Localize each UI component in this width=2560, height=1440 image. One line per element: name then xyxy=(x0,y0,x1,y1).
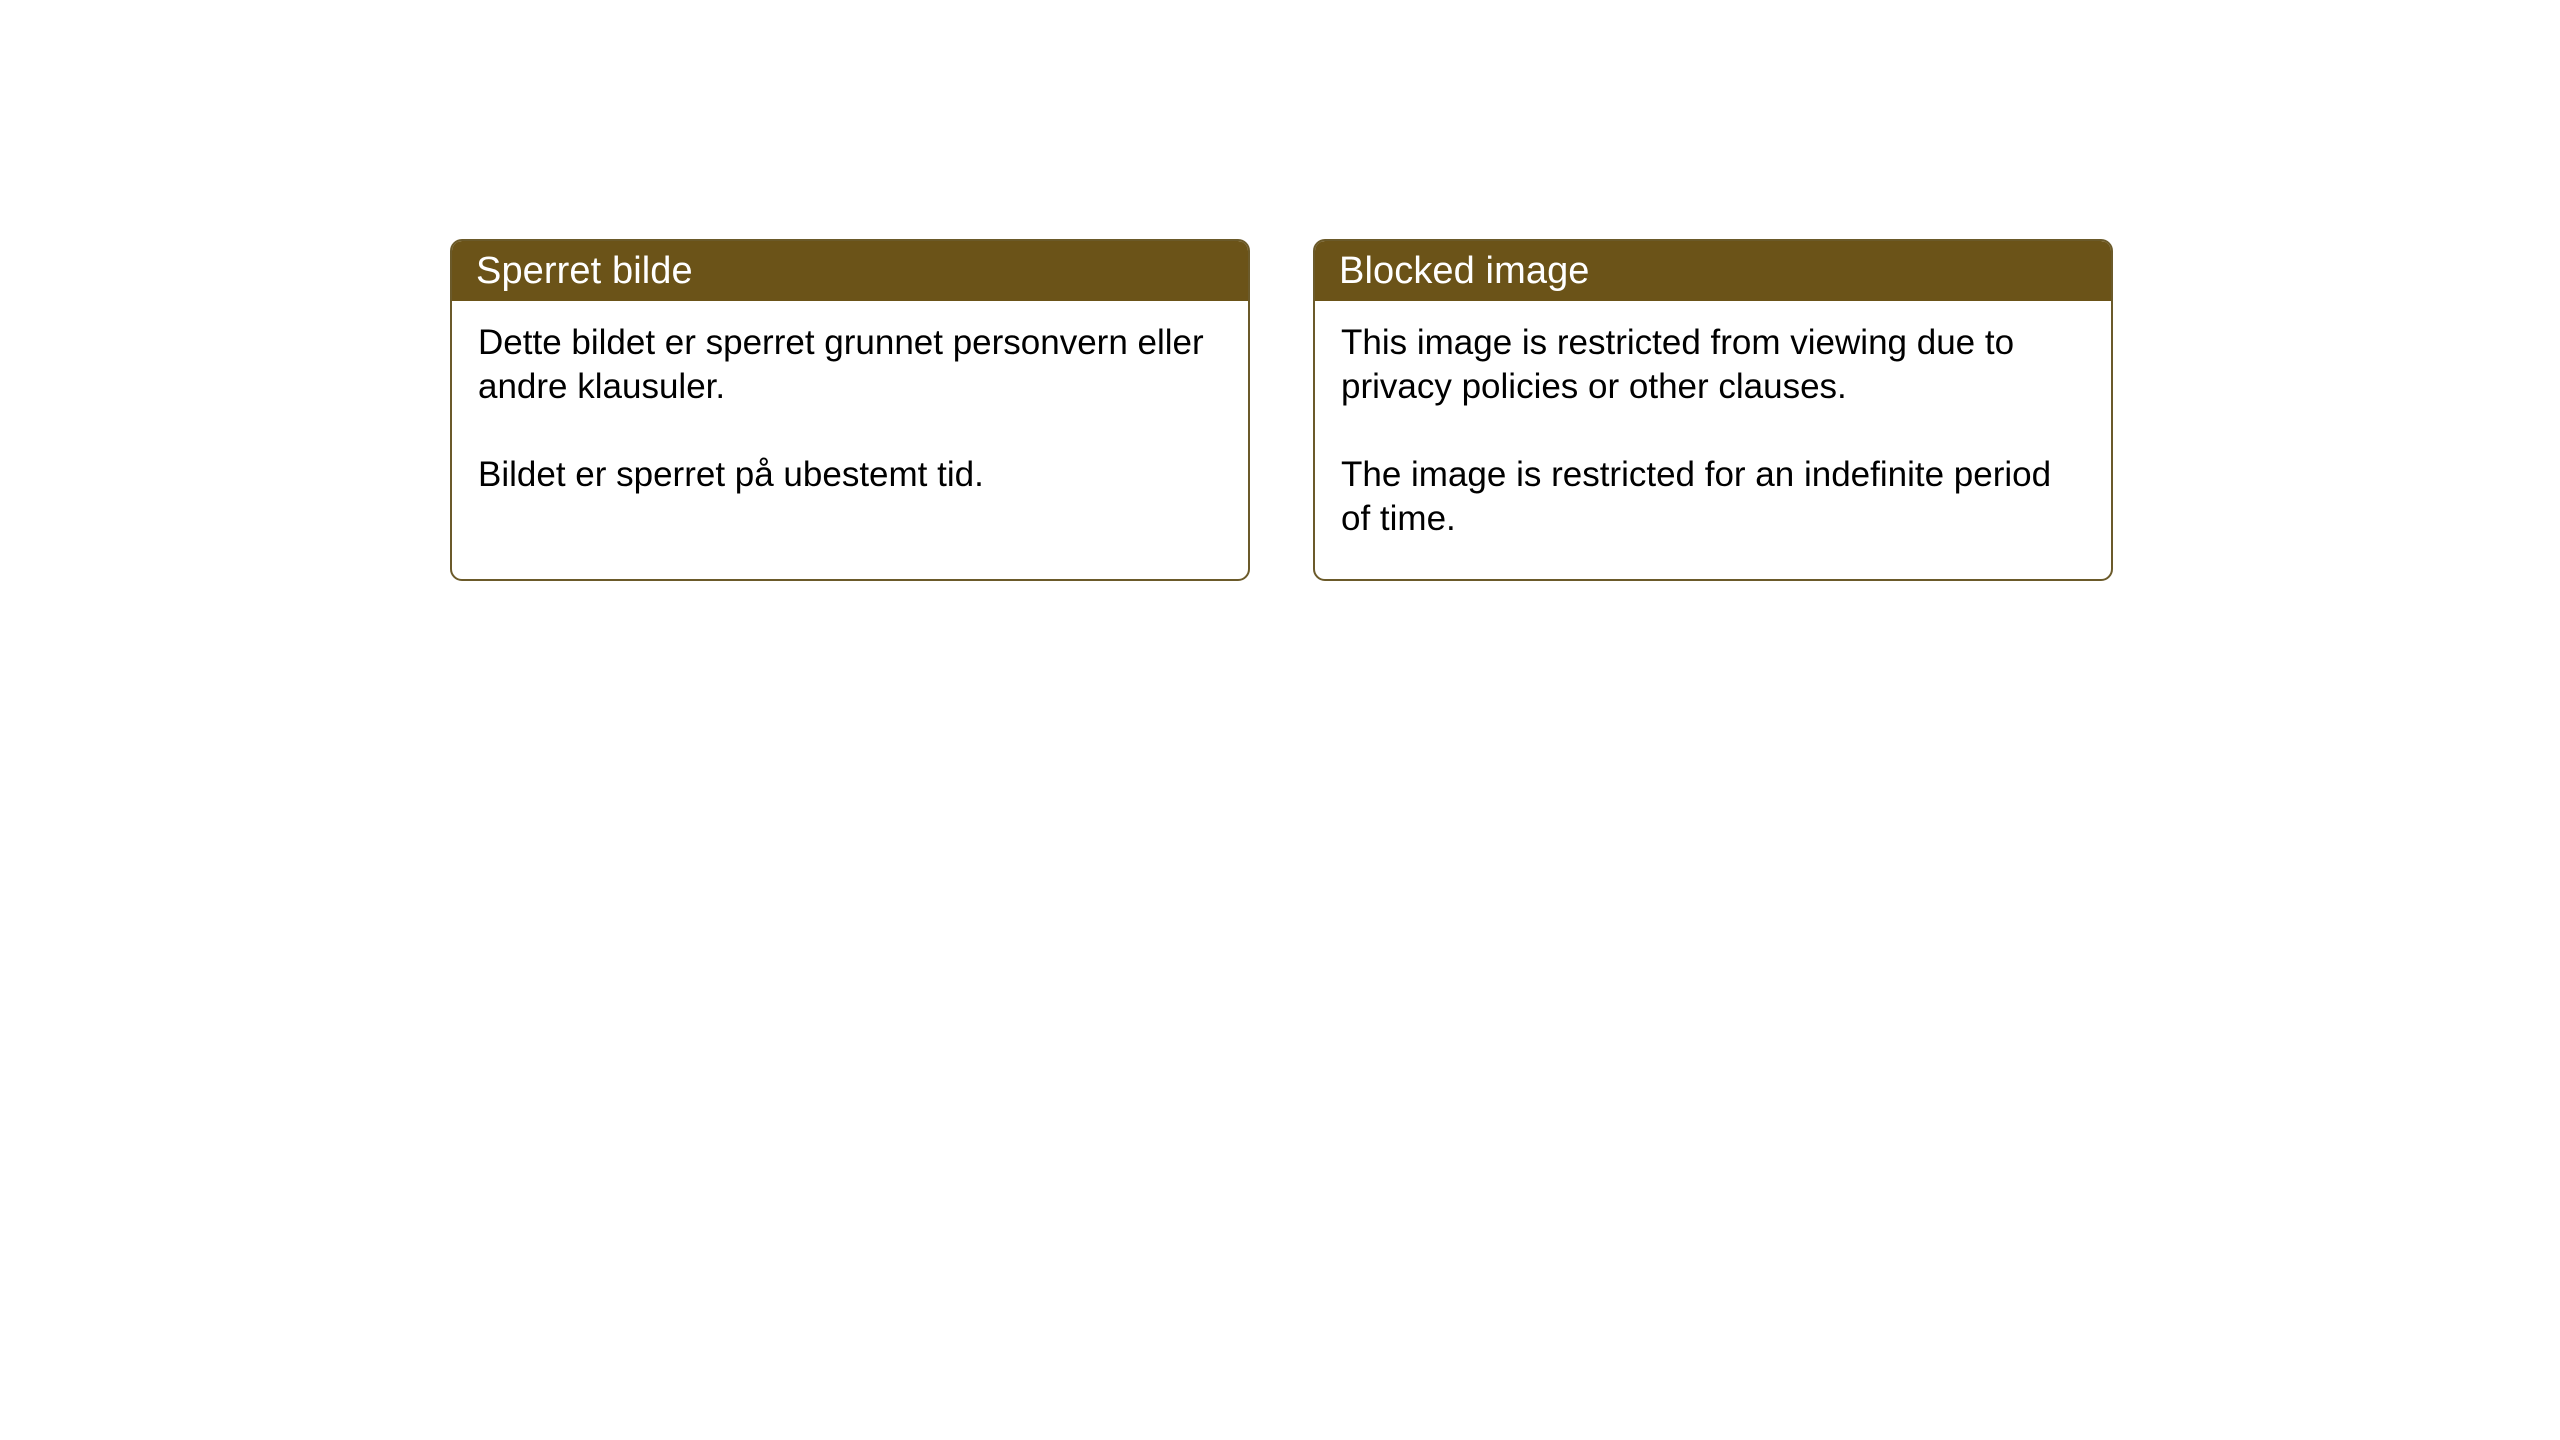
card-body-norwegian: Dette bildet er sperret grunnet personve… xyxy=(452,301,1248,497)
card-title-english: Blocked image xyxy=(1339,252,1590,290)
card-paragraph-secondary-english: The image is restricted for an indefinit… xyxy=(1341,453,2087,541)
blocked-image-notice-card-norwegian: Sperret bilde Dette bildet er sperret gr… xyxy=(450,239,1250,581)
card-paragraph-primary-norwegian: Dette bildet er sperret grunnet personve… xyxy=(478,321,1224,409)
card-paragraph-primary-english: This image is restricted from viewing du… xyxy=(1341,321,2087,409)
card-header-english: Blocked image xyxy=(1315,241,2111,301)
page-root: Sperret bilde Dette bildet er sperret gr… xyxy=(0,0,2560,1440)
card-paragraph-secondary-norwegian: Bildet er sperret på ubestemt tid. xyxy=(478,453,1224,497)
card-header-norwegian: Sperret bilde xyxy=(452,241,1248,301)
card-body-english: This image is restricted from viewing du… xyxy=(1315,301,2111,541)
card-title-norwegian: Sperret bilde xyxy=(476,252,693,290)
blocked-image-notice-card-english: Blocked image This image is restricted f… xyxy=(1313,239,2113,581)
